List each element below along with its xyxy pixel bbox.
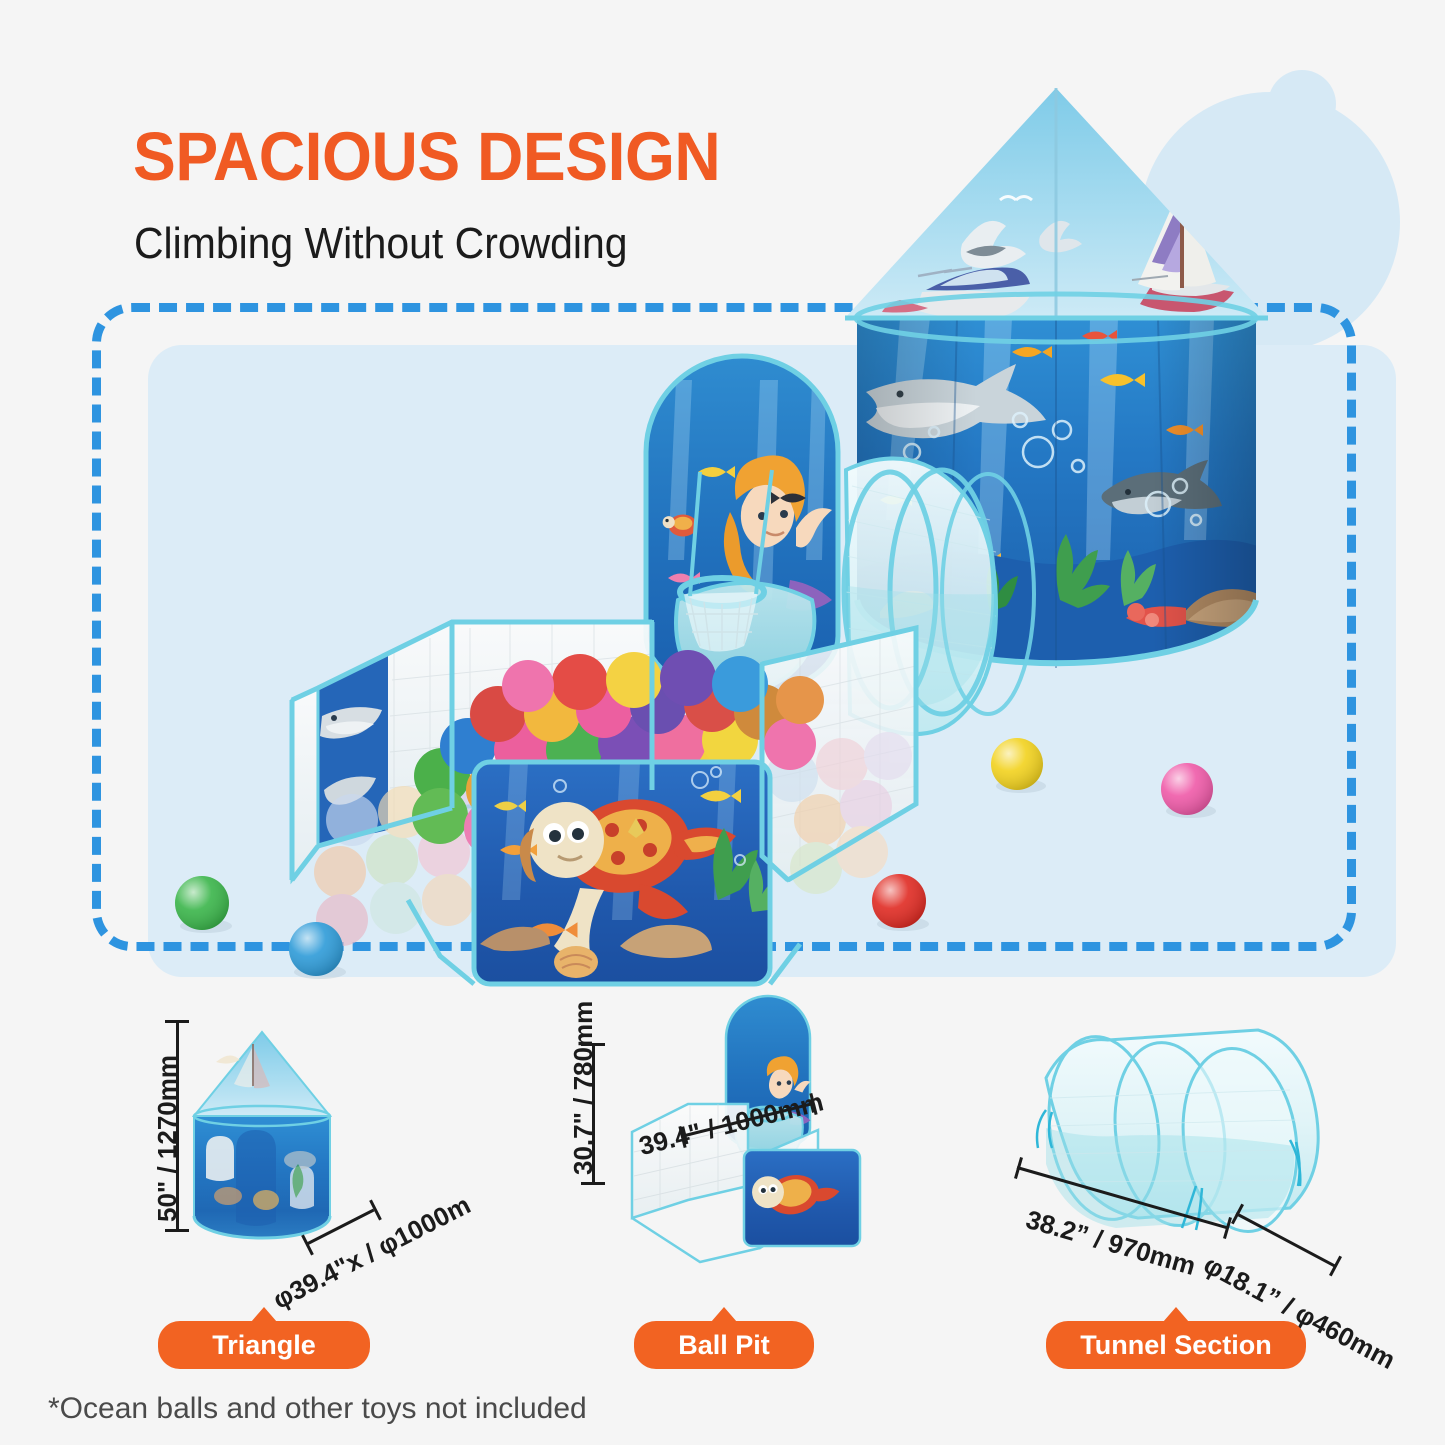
- footnote-text: *Ocean balls and other toys not included: [48, 1392, 587, 1426]
- badge-notch-icon: [251, 1307, 277, 1322]
- spec-illustration-tunnel: [1037, 1029, 1318, 1239]
- tunnel-length-label: 38.2” / 970mm: [1022, 1204, 1199, 1282]
- badge-ball-pit-label: Ball Pit: [678, 1330, 770, 1361]
- badge-tunnel-section[interactable]: Tunnel Section: [1046, 1321, 1306, 1369]
- seagull-small: [1039, 221, 1082, 252]
- badge-notch-icon: [711, 1307, 737, 1322]
- badge-tunnel-label: Tunnel Section: [1080, 1330, 1272, 1361]
- page-subtitle: Climbing Without Crowding: [134, 222, 628, 266]
- seagull-large: [961, 221, 1026, 268]
- hero-dashed-frame: [92, 303, 1356, 951]
- ballpit-height-label: 30.7" / 780mm: [568, 1001, 599, 1175]
- badge-triangle[interactable]: Triangle: [158, 1321, 370, 1369]
- infographic-page: SPACIOUS DESIGN Climbing Without Crowdin…: [0, 0, 1445, 1445]
- badge-triangle-label: Triangle: [212, 1330, 316, 1361]
- badge-notch-icon: [1163, 1307, 1189, 1322]
- decorative-circle-small: [1268, 70, 1336, 138]
- badge-ball-pit[interactable]: Ball Pit: [634, 1321, 814, 1369]
- ballpit-width-label: 39.4" / 1000mm: [636, 1086, 827, 1162]
- triangle-height-label: 50" / 1270mm: [152, 1055, 183, 1222]
- page-title: SPACIOUS DESIGN: [133, 122, 720, 191]
- spec-illustration-triangle: [194, 1032, 330, 1238]
